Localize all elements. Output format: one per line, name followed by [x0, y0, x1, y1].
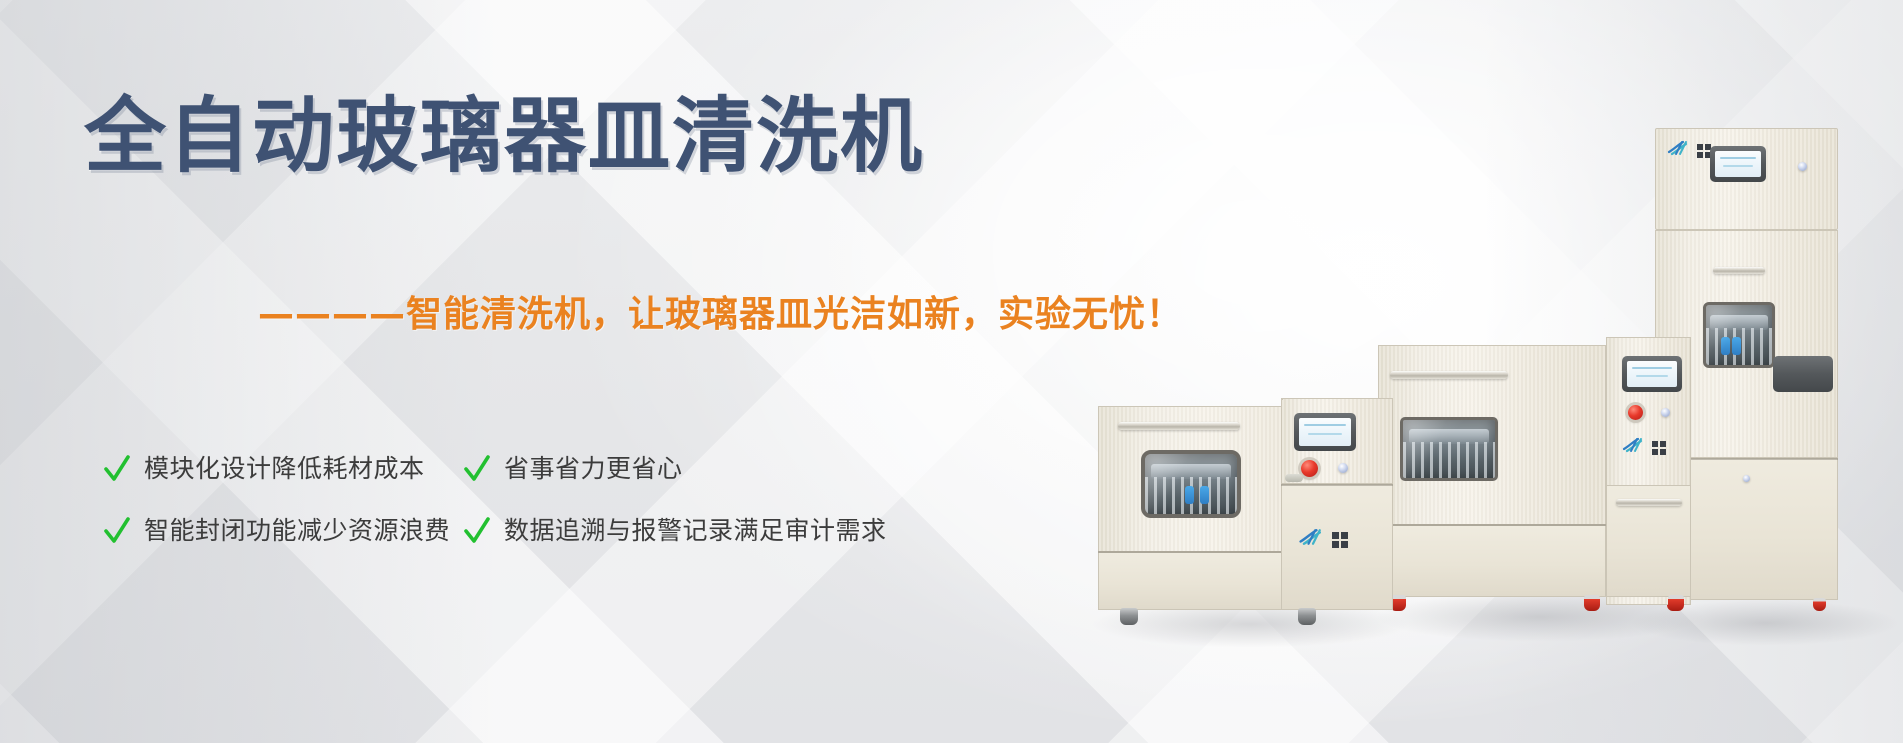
emergency-stop-button[interactable] — [1301, 460, 1318, 477]
touchscreen-panel[interactable] — [1710, 146, 1766, 182]
caster-wheel — [1584, 595, 1600, 611]
logo-squares-icon — [1697, 144, 1711, 158]
control-buttons-icon[interactable] — [1285, 474, 1303, 482]
panel-seam — [1281, 484, 1393, 486]
viewing-window — [1703, 302, 1775, 368]
logo-squares-icon — [1652, 441, 1666, 455]
logo-squares-icon — [1332, 532, 1348, 548]
status-indicator-icon — [1661, 408, 1670, 417]
status-indicator-icon — [1798, 162, 1807, 171]
hmi-screen — [1627, 361, 1677, 387]
door-handle[interactable] — [1118, 422, 1240, 430]
touchscreen-panel[interactable] — [1773, 356, 1833, 392]
emergency-stop-button[interactable] — [1628, 405, 1643, 420]
base-lock-icon — [1743, 475, 1750, 482]
hmi-screen — [1715, 151, 1761, 177]
caster-wheel — [1120, 608, 1138, 625]
drawer-handle[interactable] — [1616, 499, 1682, 506]
window-blue-nozzle — [1200, 486, 1209, 504]
touchscreen-panel-2[interactable] — [1622, 356, 1682, 392]
status-indicator-icon — [1338, 463, 1348, 473]
touchscreen-panel[interactable] — [1294, 413, 1356, 451]
brand-logo — [1298, 528, 1348, 551]
product-images — [0, 0, 1903, 743]
brand-logo — [1622, 437, 1666, 458]
caster-wheel — [1298, 608, 1316, 625]
viewing-window — [1141, 450, 1241, 518]
control-column-body — [1281, 398, 1283, 400]
logo-swoosh-icon — [1298, 528, 1328, 551]
product-undercounter-glassware-washer[interactable] — [1098, 398, 1466, 613]
caster-wheel — [1813, 598, 1826, 611]
promo-banner: 全自动玻璃器皿清洗机 ————智能清洗机，让玻璃器皿光洁如新，实验无忧！ 模块化… — [0, 0, 1903, 743]
brand-logo — [1667, 140, 1711, 161]
door-handle[interactable] — [1713, 267, 1765, 274]
logo-swoosh-icon — [1622, 437, 1648, 458]
logo-swoosh-icon — [1667, 140, 1693, 161]
door-handle[interactable] — [1390, 371, 1508, 379]
hmi-screen — [1299, 418, 1351, 446]
caster-wheel — [1668, 595, 1684, 611]
